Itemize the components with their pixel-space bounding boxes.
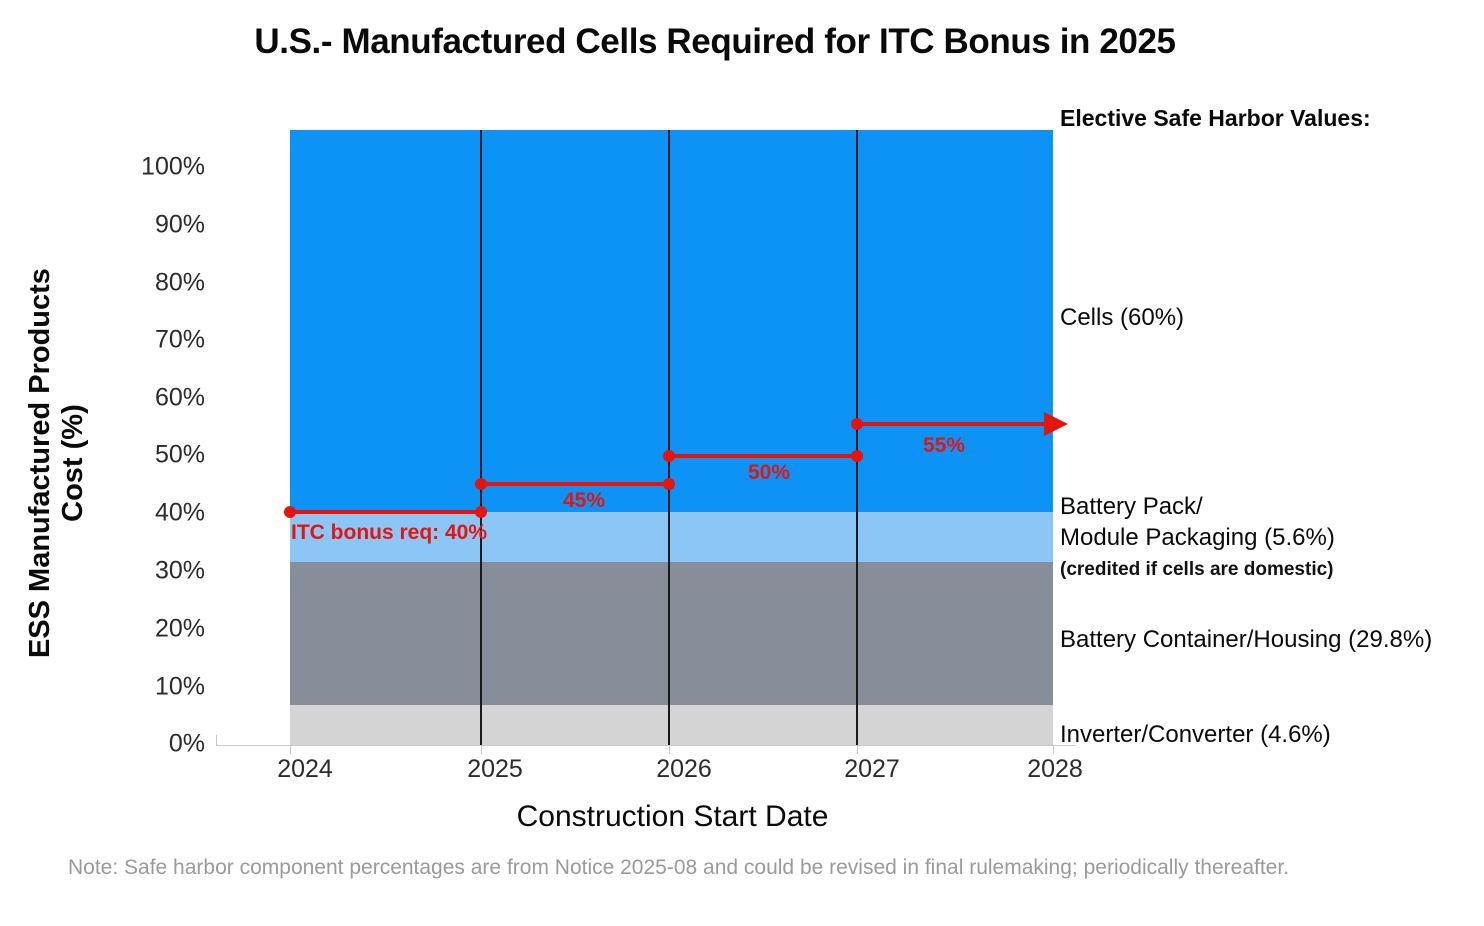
annotation-step-50: 50% (748, 461, 790, 485)
x-tick-2025 (481, 745, 482, 754)
legend-item-cells: Cells (60%) (1060, 303, 1184, 334)
x-axis-line (216, 745, 1076, 746)
x-tick-label-2028: 2028 (985, 755, 1125, 784)
band-battery-container (290, 562, 1053, 705)
y-axis-tick-labels: 100% 90% 80% 70% 60% 50% 40% 30% 20% 10%… (95, 0, 205, 926)
legend-item-battery-pack-line2: Module Packaging (5.6%) (1060, 524, 1335, 551)
y-tick-60: 60% (105, 384, 205, 413)
chart-title: U.S.- Manufactured Cells Required for IT… (0, 22, 1430, 62)
x-axis-title: Construction Start Date (290, 800, 1055, 834)
y-tick-30: 30% (105, 557, 205, 586)
annotation-step-45: 45% (563, 489, 605, 513)
x-tick-2027 (857, 745, 858, 754)
y-tick-50: 50% (105, 441, 205, 470)
x-tick-2024 (290, 745, 291, 754)
legend-item-battery-pack-line1: Battery Pack/ (1060, 493, 1203, 520)
chart-note: Note: Safe harbor component percentages … (68, 853, 1318, 883)
y-tick-20: 20% (105, 615, 205, 644)
annotation-step-55: 55% (923, 434, 965, 458)
legend-item-battery-container: Battery Container/Housing (29.8%) (1060, 625, 1432, 656)
y-tick-80: 80% (105, 269, 205, 298)
chart-figure: U.S.- Manufactured Cells Required for IT… (0, 0, 1484, 926)
x-tick-2028 (1053, 745, 1054, 754)
y-tick-70: 70% (105, 326, 205, 355)
year-line-2026 (668, 130, 670, 745)
x-tick-label-2026: 2026 (614, 755, 754, 784)
legend-item-battery-pack-note: (credited if cells are domestic) (1060, 559, 1334, 580)
y-tick-100: 100% (105, 153, 205, 182)
band-inverter (290, 705, 1053, 745)
y-tick-10: 10% (105, 673, 205, 702)
legend-item-inverter: Inverter/Converter (4.6%) (1060, 720, 1331, 751)
y-tick-40: 40% (105, 499, 205, 528)
x-tick-label-2027: 2027 (802, 755, 942, 784)
year-line-2027 (856, 130, 858, 745)
x-tick-label-2025: 2025 (425, 755, 565, 784)
x-tick-label-2024: 2024 (235, 755, 375, 784)
y-axis-title: ESS Manufactured Products Cost (%) (24, 248, 90, 678)
annotation-itc-bonus-req: ITC bonus req: 40% (291, 521, 487, 545)
y-tick-0: 0% (105, 730, 205, 759)
y-axis-stub (216, 735, 217, 746)
x-tick-2026 (669, 745, 670, 754)
year-line-2025 (480, 130, 482, 745)
y-tick-90: 90% (105, 211, 205, 240)
legend-item-battery-pack: Battery Pack/ Module Packaging (5.6%) (c… (1060, 492, 1335, 584)
legend-header: Elective Safe Harbor Values: (1060, 105, 1371, 132)
